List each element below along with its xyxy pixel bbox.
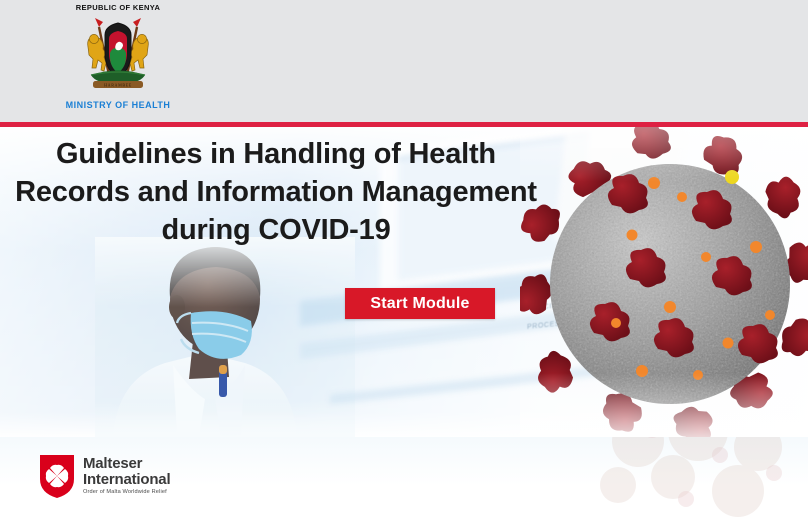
logo-malteser-international[interactable]: Malteser International Order of Malta Wo… [38,453,170,499]
title-line-2: Records and Information Management [0,173,552,211]
page-title: Guidelines in Handling of Health Records… [0,135,552,249]
start-module-button[interactable]: Start Module [345,288,495,319]
header-band: REPUBLIC OF KENYA [0,0,808,122]
ministry-of-health-logo: REPUBLIC OF KENYA [68,2,168,118]
partner-logos-footer: Malteser International Order of Malta Wo… [0,437,808,525]
crest-title: REPUBLIC OF KENYA [76,3,160,12]
health-worker-photo [95,237,355,437]
module-cover-page: REPUBLIC OF KENYA [0,0,808,525]
crest-subtitle: MINISTRY OF HEALTH [66,100,171,110]
title-line-1: Guidelines in Handling of Health [0,135,552,173]
malteser-line-1: Malteser [83,456,170,471]
virus-photo-fade [578,437,808,525]
malteser-tagline: Order of Malta Worldwide Relief [83,490,170,496]
svg-text:HARAMBEE: HARAMBEE [104,82,132,87]
malteser-shield-icon [38,453,76,499]
kenya-coat-of-arms-icon: HARAMBEE [75,13,161,99]
malteser-line-2: International [83,472,170,487]
title-line-3: during COVID-19 [0,211,552,249]
hero-banner: VACCINE EFFORT PROCESSING AREA [0,127,808,437]
coronavirus-photo [520,127,808,437]
